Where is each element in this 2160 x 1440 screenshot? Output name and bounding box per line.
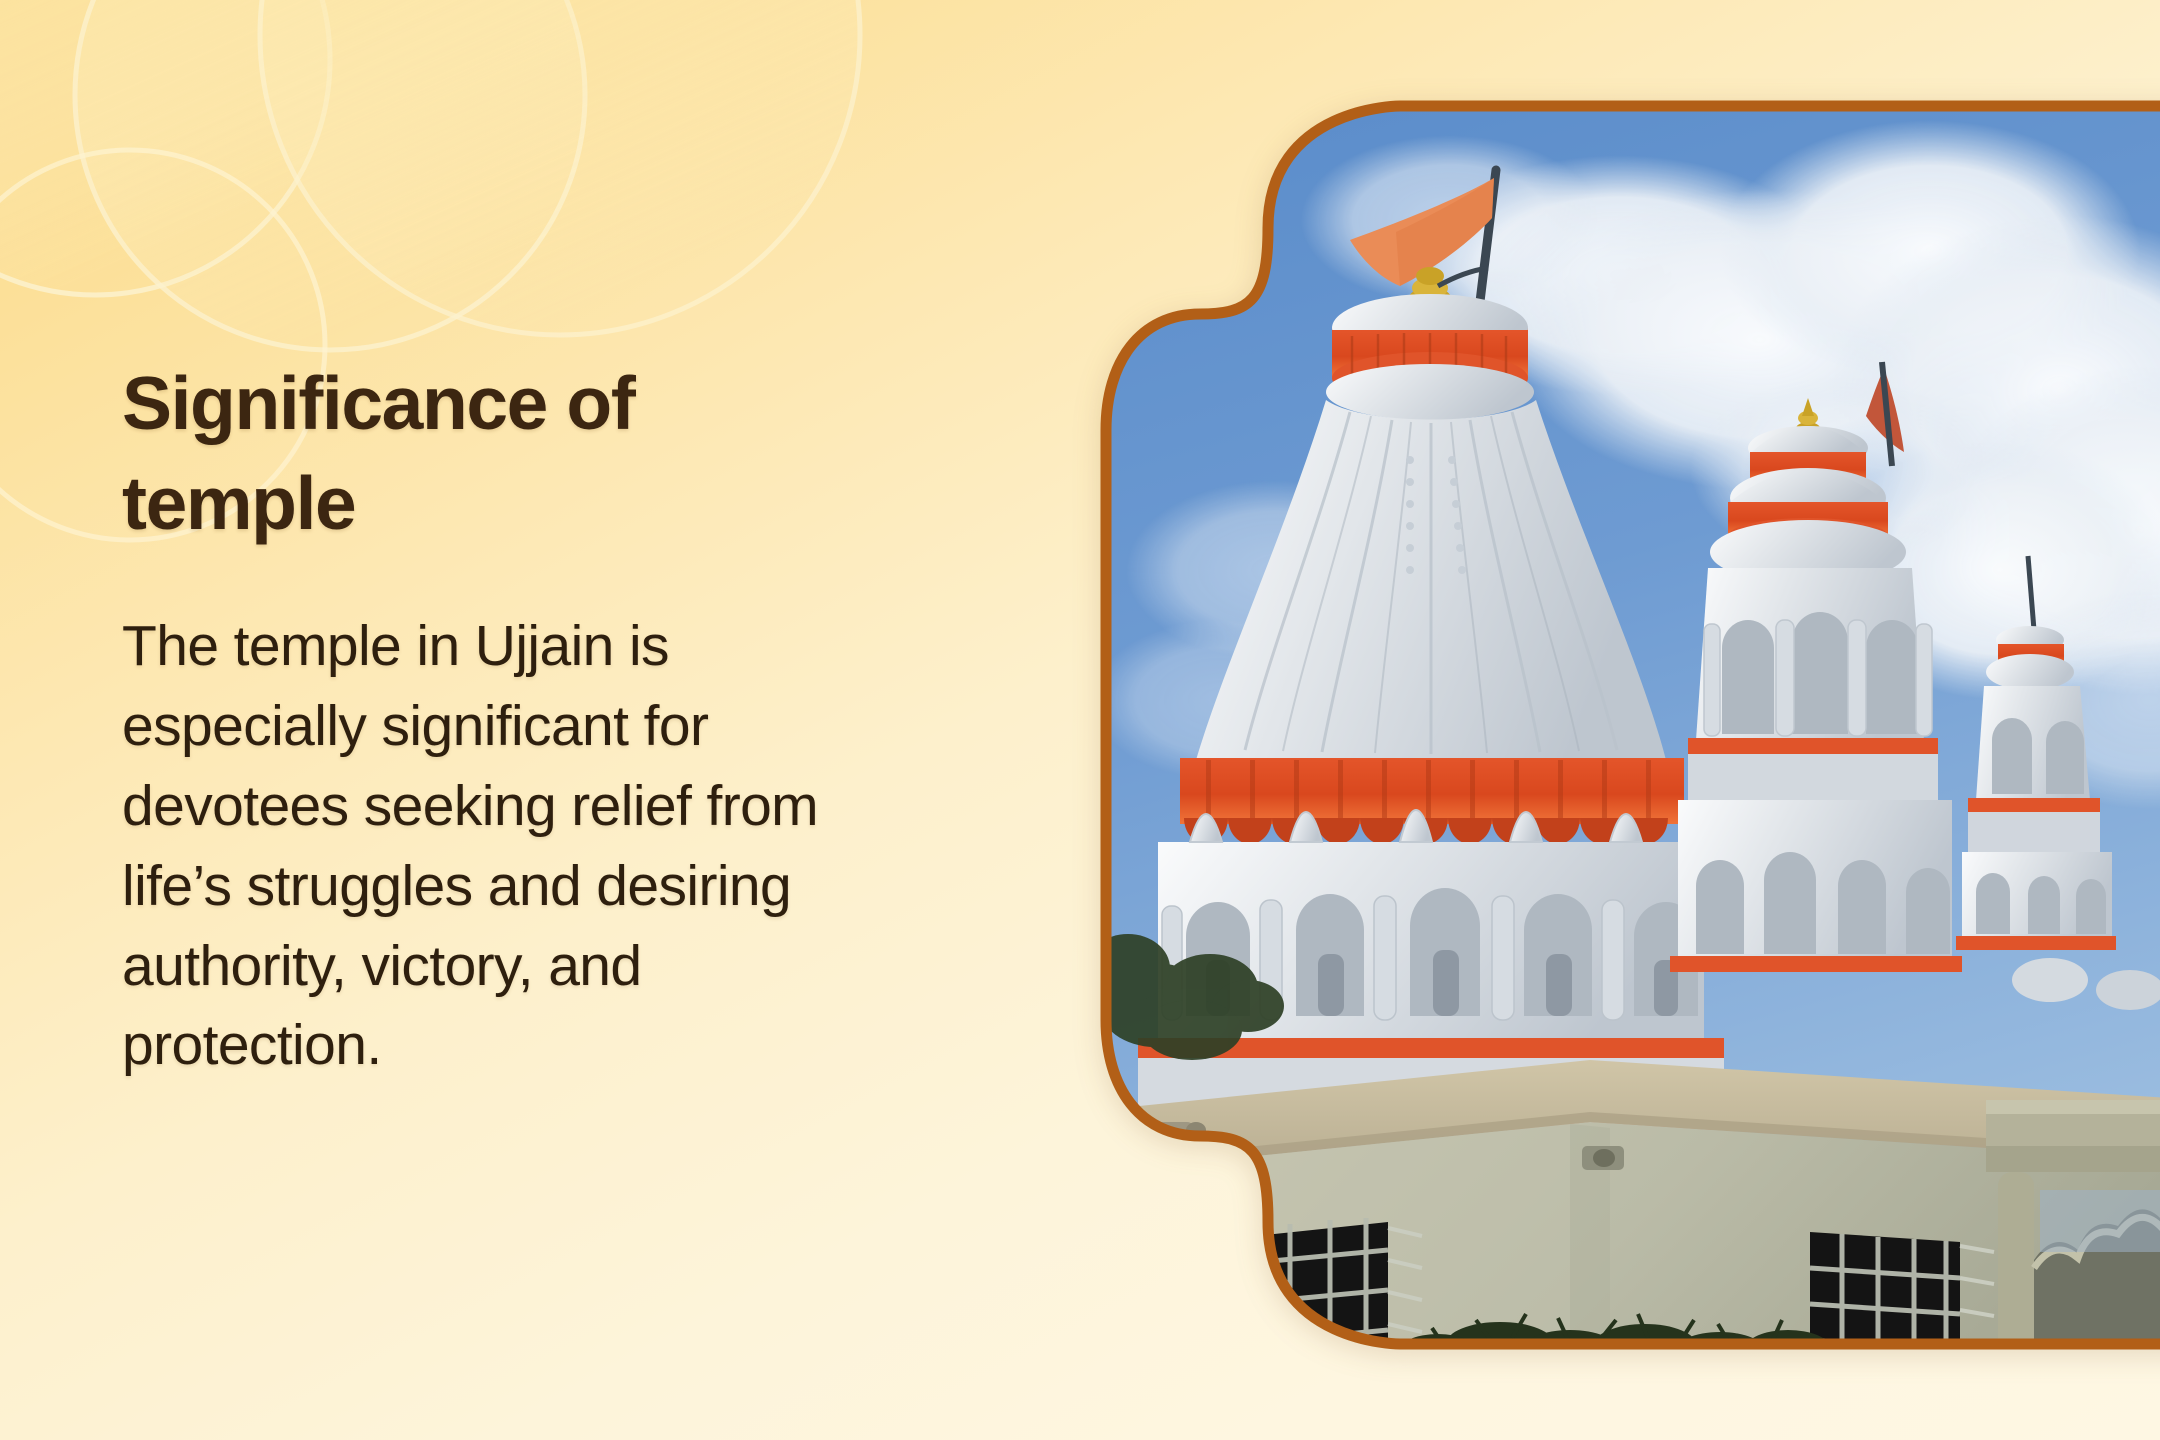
slide-canvas: Significance of temple The temple in Ujj… [0,0,2160,1440]
body-paragraph: The temple in Ujjain is especially signi… [122,607,822,1086]
page-title: Significance of temple [122,354,822,554]
wall-fixture [1582,1146,1624,1170]
temple-photo-frame [1100,100,2160,1350]
text-column: Significance of temple The temple in Ujj… [122,0,922,1440]
temple-building [1100,1060,2160,1350]
ujjain-temple-photograph [1100,100,2160,1350]
red-scalloped-eave [1180,758,1684,844]
arched-pavilion [1986,1100,2160,1350]
